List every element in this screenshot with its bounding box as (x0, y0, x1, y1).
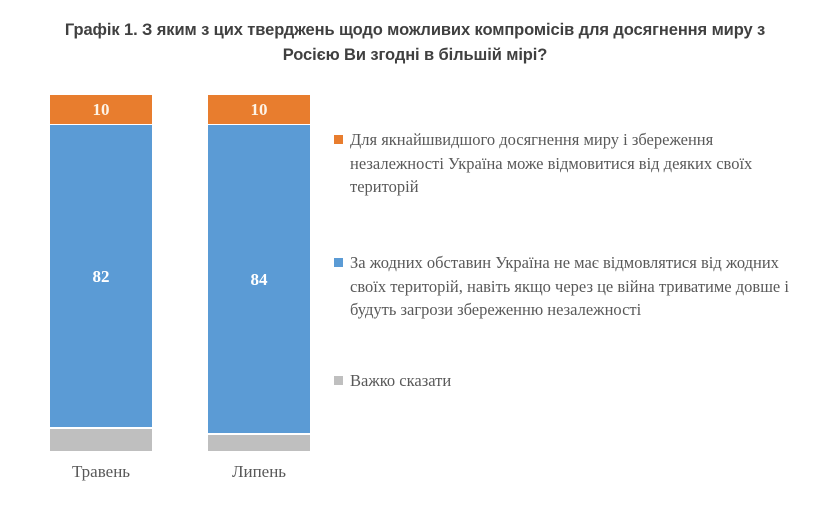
legend-label: Для якнайшвидшого досягнення миру і збер… (350, 128, 794, 199)
bar-segment-orange[interactable]: 10 (50, 95, 152, 124)
bar-segment-value: 82 (93, 268, 110, 285)
bar-segment-gray[interactable] (50, 429, 152, 451)
legend-item-orange[interactable]: Для якнайшвидшого досягнення миру і збер… (334, 128, 794, 199)
stacked-bar: 10 82 (50, 95, 152, 451)
plot-area: 10 82 Травень 10 84 (0, 0, 330, 505)
legend-swatch-blue-icon (334, 258, 343, 267)
category-label-lypen: Липень (194, 462, 324, 482)
category-label-traven: Травень (36, 462, 166, 482)
legend-swatch-orange-icon (334, 135, 343, 144)
legend-swatch-gray-icon (334, 376, 343, 385)
stacked-bar: 10 84 (208, 95, 310, 451)
bar-segment-value: 10 (93, 101, 110, 118)
bar-segment-gray[interactable] (208, 435, 310, 451)
chart-container: Графік 1. З яким з цих тверджень щодо мо… (0, 0, 830, 505)
legend-label: Важко сказати (350, 369, 451, 393)
legend-item-gray[interactable]: Важко сказати (334, 369, 794, 393)
bar-segment-value: 10 (251, 101, 268, 118)
bar-group-traven: 10 82 Травень (50, 0, 152, 505)
bar-segment-orange[interactable]: 10 (208, 95, 310, 124)
chart-legend: Для якнайшвидшого досягнення миру і збер… (330, 0, 830, 505)
bar-segment-value: 84 (251, 271, 268, 288)
bar-group-lypen: 10 84 Липень (208, 0, 310, 505)
legend-item-blue[interactable]: За жодних обставин Україна не має відмов… (334, 251, 794, 322)
legend-label: За жодних обставин Україна не має відмов… (350, 251, 794, 322)
bar-segment-blue[interactable]: 84 (208, 125, 310, 433)
bar-segment-blue[interactable]: 82 (50, 125, 152, 427)
